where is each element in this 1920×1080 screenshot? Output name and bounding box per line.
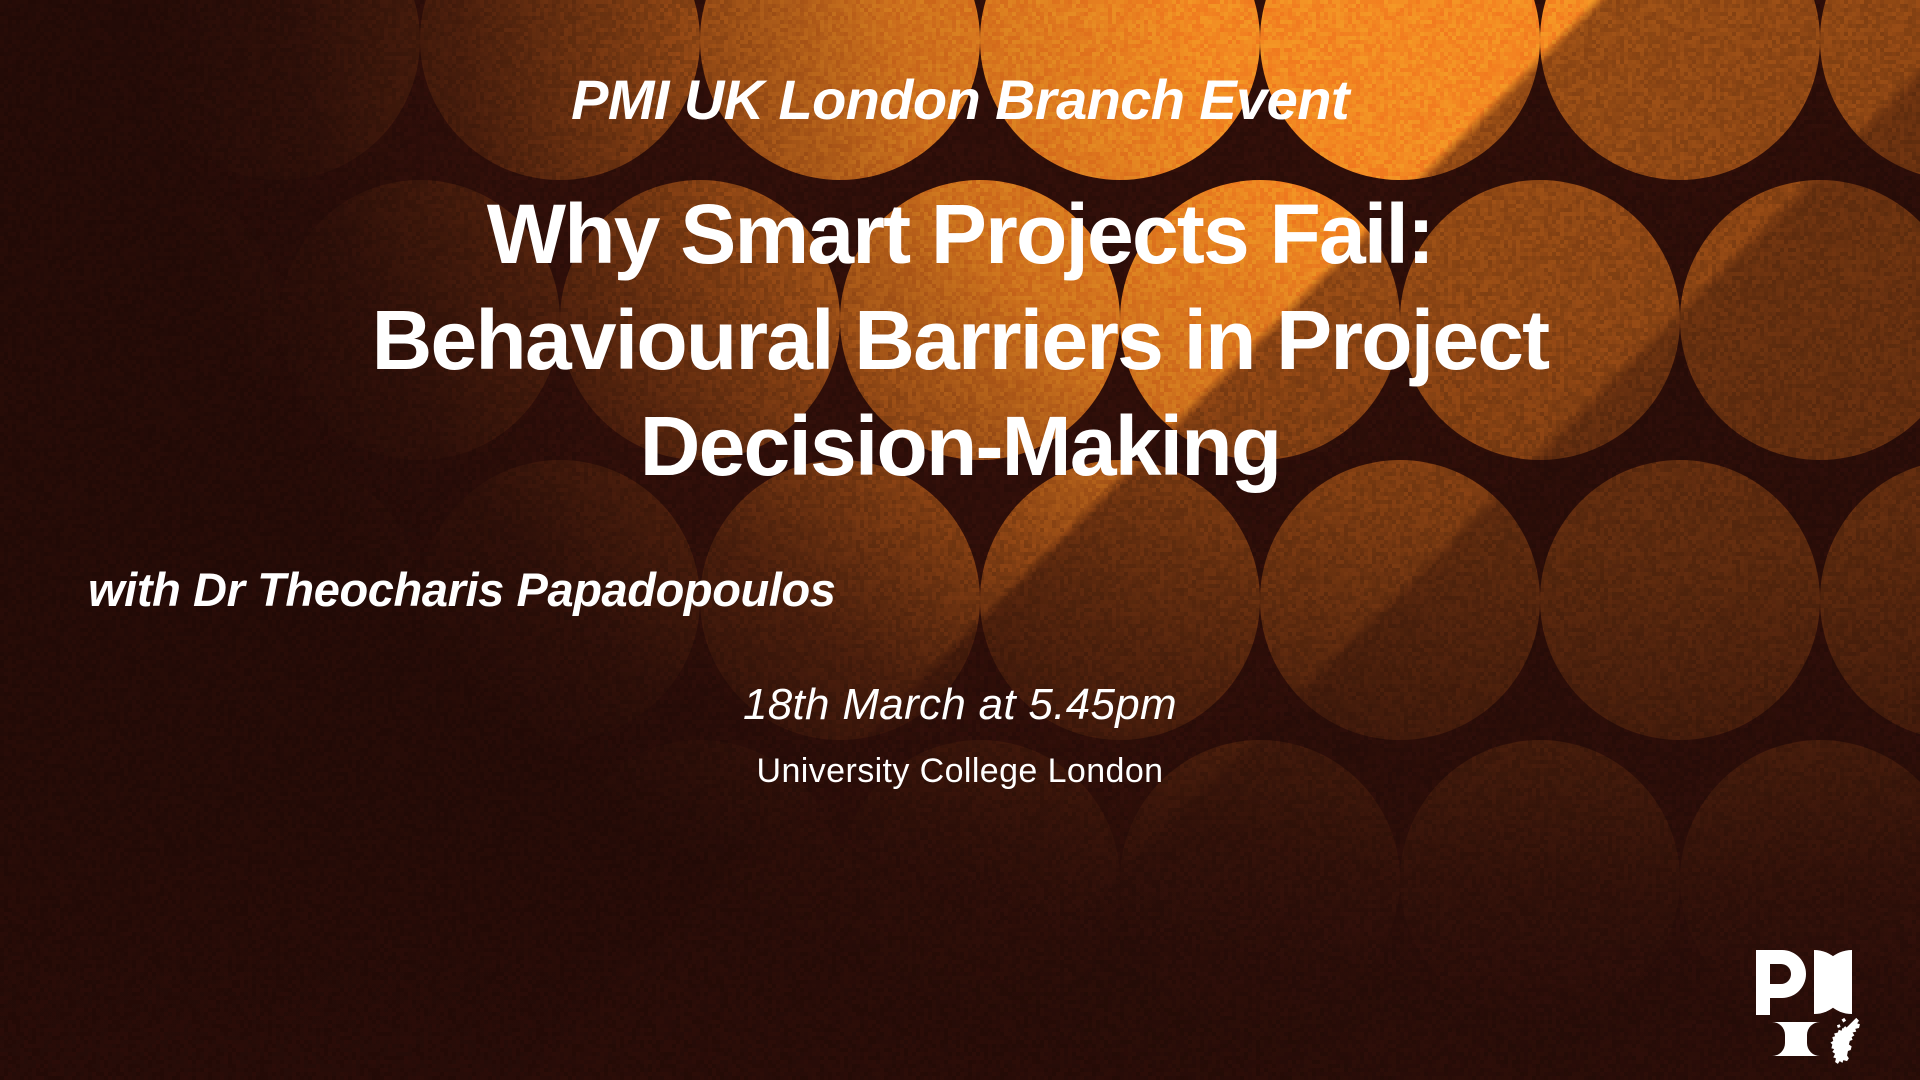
united-kingdom-map-icon [1830,1018,1859,1064]
event-venue: University College London [0,752,1920,791]
title-line-3: Decision-Making [60,394,1860,500]
title-line-1: Why Smart Projects Fail: [60,182,1860,288]
logo-letter-i [1772,1022,1820,1056]
title-line-2: Behavioural Barriers in Project [60,288,1860,394]
event-eyebrow: PMI UK London Branch Event [0,72,1920,128]
page-title: Why Smart Projects Fail: Behavioural Bar… [60,182,1860,499]
pmi-uk-logo [1752,948,1884,1066]
event-poster: PMI UK London Branch Event Why Smart Pro… [0,0,1920,1080]
speaker-name: with Dr Theocharis Papadopoulos [88,562,836,617]
event-date-time: 18th March at 5.45pm [0,680,1920,730]
logo-letter-p [1756,950,1806,1015]
